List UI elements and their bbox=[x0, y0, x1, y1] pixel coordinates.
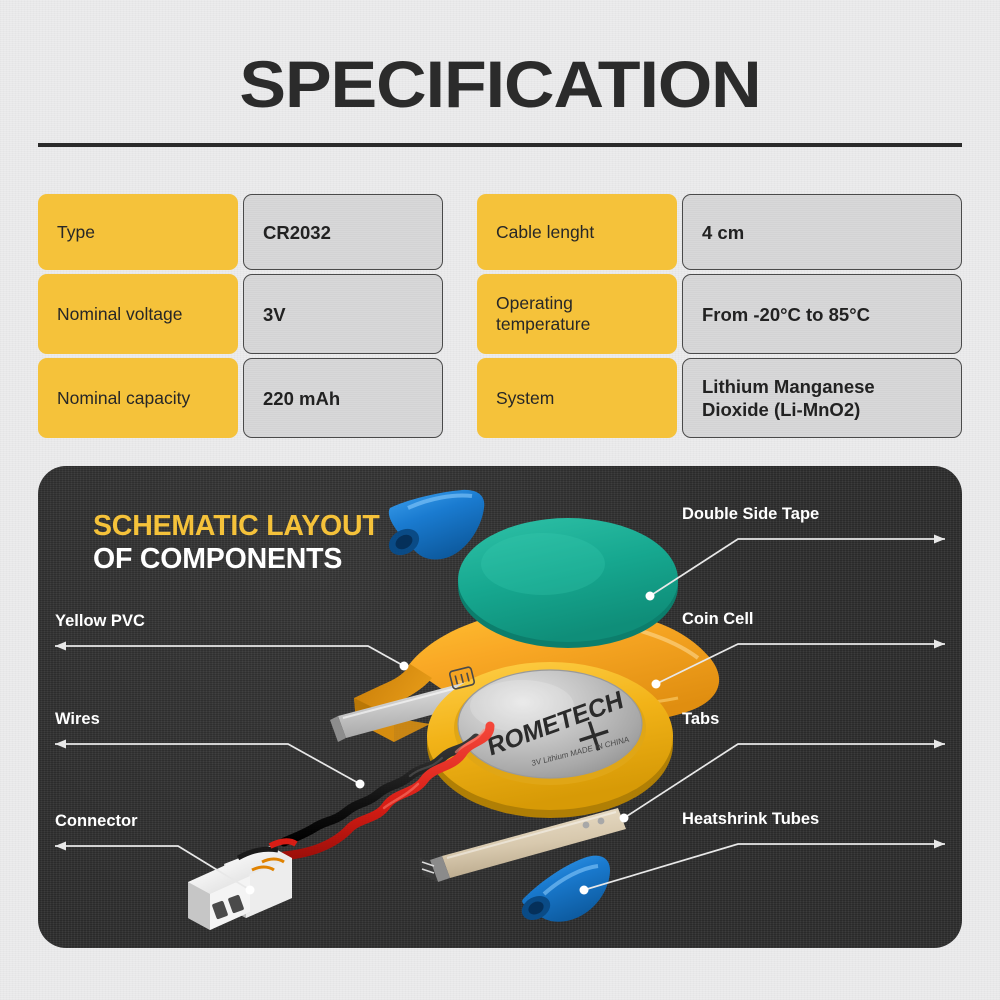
table-column-gap bbox=[443, 358, 477, 438]
spec-value-operating-temperature: From -20°C to 85°C bbox=[682, 274, 962, 354]
callout-label-wires: Wires bbox=[55, 710, 100, 729]
heatshrink-tube-lower-art bbox=[518, 856, 610, 925]
spec-label-operating-temperature: Operating temperature bbox=[477, 274, 677, 354]
spec-label-cable-length: Cable lenght bbox=[477, 194, 677, 270]
callout-label-heatshrink-tubes: Heatshrink Tubes bbox=[682, 810, 819, 829]
spec-label-nominal-voltage: Nominal voltage bbox=[38, 274, 238, 354]
specification-page: SPECIFICATION Type CR2032 Cable lenght 4… bbox=[0, 0, 1000, 1000]
spec-value-cable-length: 4 cm bbox=[682, 194, 962, 270]
callout-label-double-side-tape: Double Side Tape bbox=[682, 505, 819, 524]
callout-label-connector: Connector bbox=[55, 812, 138, 831]
spec-value-type: CR2032 bbox=[243, 194, 443, 270]
spec-value-nominal-voltage: 3V bbox=[243, 274, 443, 354]
page-title: SPECIFICATION bbox=[0, 48, 1000, 120]
exploded-view-illustration: ROMETECH 3V Lithium MADE IN CHINA bbox=[38, 466, 962, 948]
table-column-gap bbox=[443, 274, 477, 354]
spec-label-type: Type bbox=[38, 194, 238, 270]
spec-label-system: System bbox=[477, 358, 677, 438]
spec-value-system: Lithium Manganese Dioxide (Li-MnO2) bbox=[682, 358, 962, 438]
specification-table: Type CR2032 Cable lenght 4 cm Nominal vo… bbox=[38, 194, 962, 438]
spec-value-nominal-capacity: 220 mAh bbox=[243, 358, 443, 438]
schematic-layout-panel: SCHEMATIC LAYOUT OF COMPONENTS bbox=[38, 466, 962, 948]
coin-cell-art: ROMETECH 3V Lithium MADE IN CHINA bbox=[427, 662, 673, 818]
spec-label-nominal-capacity: Nominal capacity bbox=[38, 358, 238, 438]
callout-label-coin-cell: Coin Cell bbox=[682, 610, 754, 629]
double-side-tape-art bbox=[458, 518, 678, 648]
title-divider bbox=[38, 143, 962, 147]
table-column-gap bbox=[443, 194, 477, 270]
callout-label-tabs: Tabs bbox=[682, 710, 719, 729]
heatshrink-tube-upper-art bbox=[384, 490, 484, 560]
callout-label-yellow-pvc: Yellow PVC bbox=[55, 612, 145, 631]
